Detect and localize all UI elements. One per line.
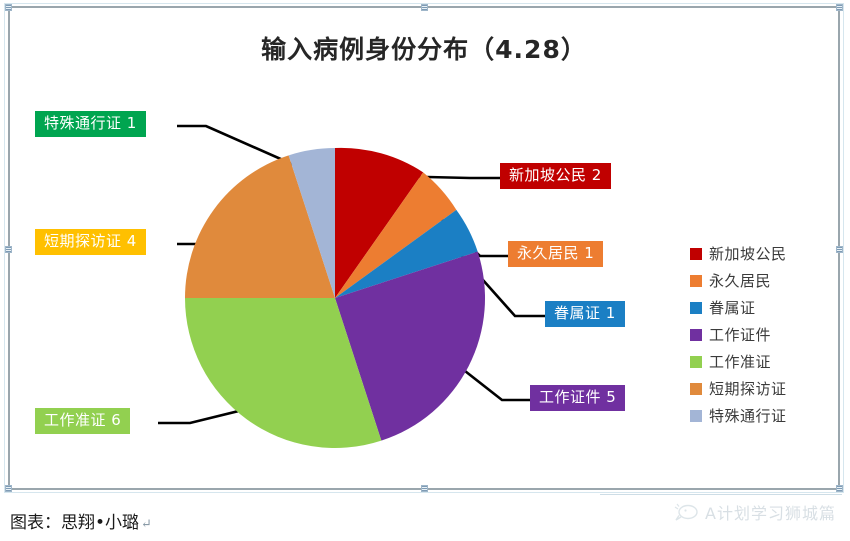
watermark-text: A计划学习狮城篇 xyxy=(705,500,836,524)
data-label-dependant[interactable]: 眷属证 1 xyxy=(545,301,625,327)
paragraph-mark: ↵ xyxy=(141,517,152,532)
chart-legend: 新加坡公民 永久居民 眷属证 工作证件 工作准证 xyxy=(690,240,787,429)
chart-source-text: 图表：思翔•小璐 xyxy=(10,513,139,533)
legend-swatch-icon xyxy=(690,410,702,422)
resize-handle-top-left[interactable] xyxy=(5,4,12,11)
legend-item-short-visit[interactable]: 短期探访证 xyxy=(690,375,787,402)
legend-label: 特殊通行证 xyxy=(709,405,787,426)
legend-label: 永久居民 xyxy=(709,270,771,291)
data-label-citizen[interactable]: 新加坡公民 2 xyxy=(500,163,611,189)
resize-handle-bottom-center[interactable] xyxy=(421,485,428,492)
resize-handle-bottom-right[interactable] xyxy=(836,485,843,492)
pie-chart[interactable] xyxy=(180,148,490,448)
legend-swatch-icon xyxy=(690,275,702,287)
pie-slices xyxy=(185,148,485,448)
legend-swatch-icon xyxy=(690,248,702,260)
legend-label: 眷属证 xyxy=(709,297,756,318)
resize-handle-top-right[interactable] xyxy=(836,4,843,11)
document-canvas: 输入病例身份分布（4.28） xyxy=(0,0,850,541)
data-label-work-pass[interactable]: 工作证件 5 xyxy=(530,385,625,411)
legend-item-work-permit[interactable]: 工作准证 xyxy=(690,348,787,375)
chart-source-credit: 图表：思翔•小璐↵ xyxy=(10,508,152,533)
legend-item-citizen[interactable]: 新加坡公民 xyxy=(690,240,787,267)
data-label-pr[interactable]: 永久居民 1 xyxy=(508,241,603,267)
resize-handle-bottom-left[interactable] xyxy=(5,485,12,492)
watermark: A计划学习狮城篇 xyxy=(673,500,836,524)
legend-label: 新加坡公民 xyxy=(709,243,787,264)
legend-swatch-icon xyxy=(690,356,702,368)
legend-item-pr[interactable]: 永久居民 xyxy=(690,267,787,294)
legend-swatch-icon xyxy=(690,302,702,314)
legend-label: 工作证件 xyxy=(709,324,771,345)
plot-area: 特殊通行证 1 短期探访证 4 工作准证 6 新加坡公民 2 永久居民 1 眷属… xyxy=(10,8,842,492)
chat-bubble-icon xyxy=(673,503,699,521)
data-label-special-pass[interactable]: 特殊通行证 1 xyxy=(35,111,146,137)
legend-item-dependant[interactable]: 眷属证 xyxy=(690,294,787,321)
legend-label: 短期探访证 xyxy=(709,378,787,399)
legend-item-special-pass[interactable]: 特殊通行证 xyxy=(690,402,787,429)
data-label-short-visit[interactable]: 短期探访证 4 xyxy=(35,229,146,255)
resize-handle-top-center[interactable] xyxy=(421,4,428,11)
chart-object[interactable]: 输入病例身份分布（4.28） xyxy=(8,6,840,490)
legend-item-work-pass[interactable]: 工作证件 xyxy=(690,321,787,348)
legend-label: 工作准证 xyxy=(709,351,771,372)
data-label-work-permit[interactable]: 工作准证 6 xyxy=(35,408,130,434)
legend-swatch-icon xyxy=(690,329,702,341)
resize-handle-middle-right[interactable] xyxy=(836,246,843,253)
resize-handle-middle-left[interactable] xyxy=(5,246,12,253)
document-rule xyxy=(600,494,842,495)
legend-swatch-icon xyxy=(690,383,702,395)
